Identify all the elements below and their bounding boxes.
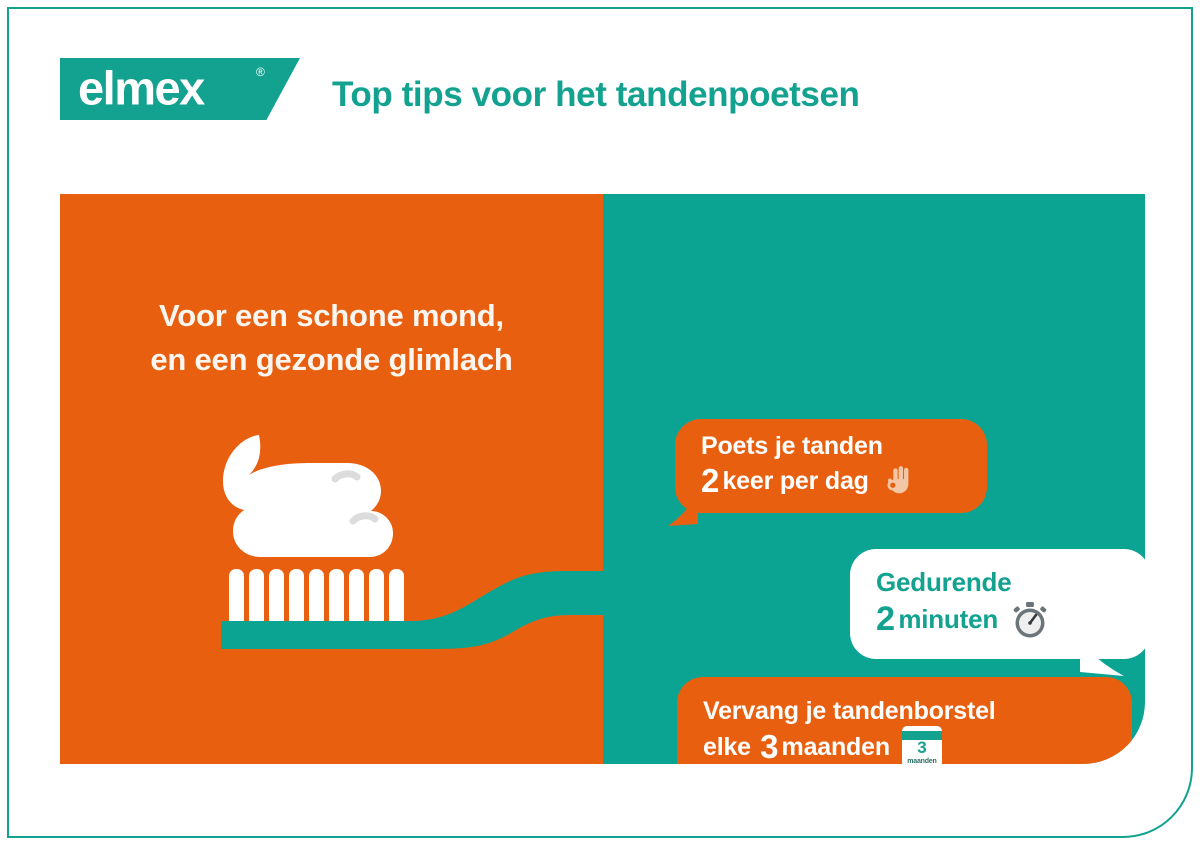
logo-wordmark: elmex xyxy=(78,65,204,112)
main-headline: Voor een schone mond, en een gezonde gli… xyxy=(60,294,603,382)
tip3-line-2-prefix: elke xyxy=(703,732,751,763)
tip2-line-1: Gedurende xyxy=(876,567,1124,599)
calendar-label: maanden xyxy=(902,758,942,764)
tip1-line-2: 2 keer per dag xyxy=(701,461,961,501)
ok-hand-emoji xyxy=(881,464,915,498)
toothbrush-bristles xyxy=(229,569,404,627)
tip1-line-1: Poets je tanden xyxy=(701,431,961,462)
headline-line-2: en een gezonde glimlach xyxy=(60,338,603,382)
tip3-line-2: elke 3 maanden 3 maanden xyxy=(703,726,1106,764)
stopwatch-emoji xyxy=(1010,600,1050,640)
main-panel: Voor een schone mond, en een gezonde gli… xyxy=(60,194,1145,764)
calendar-number: 3 xyxy=(902,739,942,757)
calendar-icon: 3 maanden xyxy=(902,726,942,764)
elmex-logo: elmex ® xyxy=(60,58,300,120)
toothbrush-handle xyxy=(221,571,645,649)
tip3-line-2-text: maanden xyxy=(782,732,890,763)
tip1-line-2-text: keer per dag xyxy=(722,466,868,497)
tip3-line-1: Vervang je tandenborstel xyxy=(703,696,1106,727)
registered-trademark-icon: ® xyxy=(256,66,265,78)
header: elmex ® Top tips voor het tandenpoetsen xyxy=(60,58,1140,136)
toothbrush-with-toothpaste-icon xyxy=(215,429,645,649)
tip-bubble-two-minutes[interactable]: Gedurende 2 minuten xyxy=(850,549,1145,659)
tip2-number: 2 xyxy=(876,599,895,641)
tip3-number: 3 xyxy=(760,727,778,764)
tip-bubble-brush-twice-daily[interactable]: Poets je tanden 2 keer per dag xyxy=(675,419,987,513)
toothpaste-blob xyxy=(223,435,393,557)
headline-line-1: Voor een schone mond, xyxy=(60,294,603,338)
infographic-page: elmex ® Top tips voor het tandenpoetsen … xyxy=(0,0,1200,845)
tip2-line-2: 2 minuten xyxy=(876,599,1124,641)
page-title: Top tips voor het tandenpoetsen xyxy=(332,75,860,115)
tip-bubble-replace-brush[interactable]: Vervang je tandenborstel elke 3 maanden … xyxy=(677,677,1132,764)
tip1-number: 2 xyxy=(701,461,719,501)
tip2-line-2-text: minuten xyxy=(898,604,998,636)
